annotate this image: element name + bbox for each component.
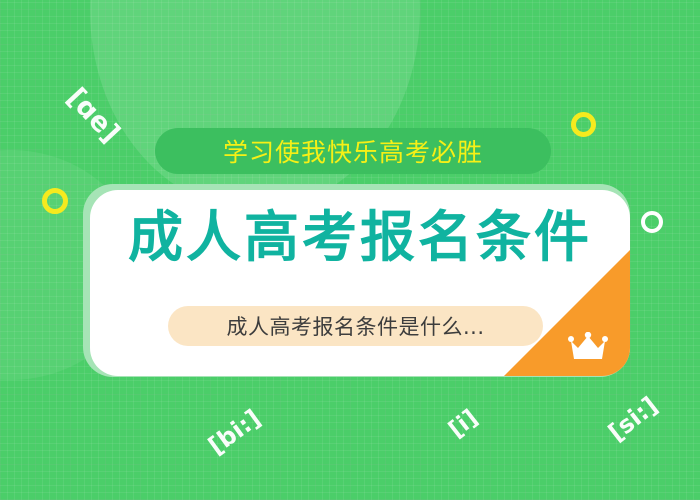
ring-yellow-left — [42, 188, 68, 214]
subtitle-text: 成人高考报名条件是什么... — [226, 311, 484, 341]
slogan-banner: 学习使我快乐高考必胜 — [155, 128, 551, 174]
page-title: 成人高考报名条件 — [90, 210, 630, 265]
subtitle-pill: 成人高考报名条件是什么... — [168, 306, 543, 346]
phonetic-si: [si:] — [603, 391, 663, 446]
slogan-banner-text: 学习使我快乐高考必胜 — [223, 133, 483, 169]
ring-white-right — [641, 211, 663, 233]
main-card: 成人高考报名条件 成人高考报名条件是什么... — [90, 190, 630, 376]
background-blob-large — [90, 0, 420, 210]
phonetic-i: [i] — [444, 405, 483, 443]
poster-canvas: [ɑe] [bi:] [i] [si:] 学习使我快乐高考必胜 成人高考报名条件… — [0, 0, 700, 500]
ring-yellow-right — [571, 112, 596, 137]
phonetic-bi: [bi:] — [203, 404, 266, 460]
crown-icon — [568, 332, 608, 362]
